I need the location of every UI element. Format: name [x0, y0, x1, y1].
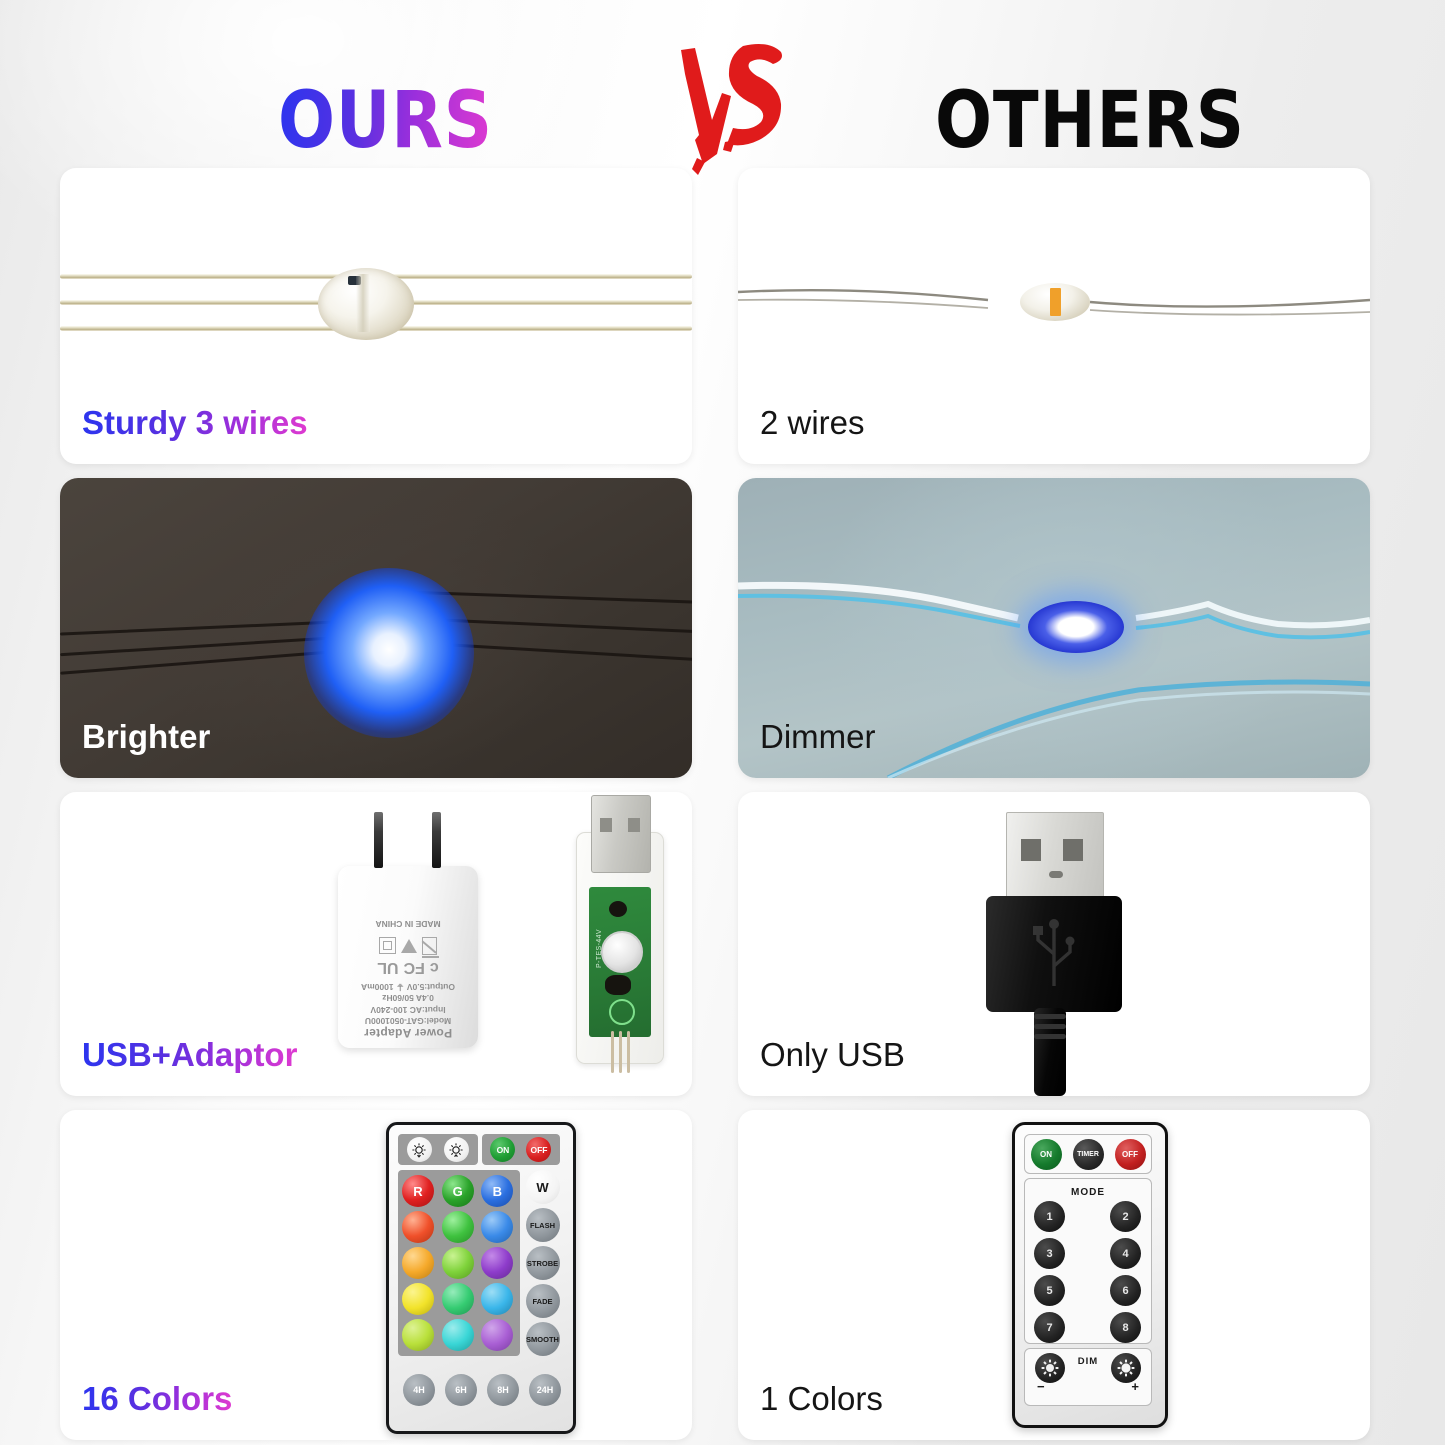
card-others-power: Only USB — [738, 792, 1370, 1096]
usb-cable — [1034, 1008, 1066, 1096]
caption-ours-row2: Brighter — [82, 718, 210, 756]
mode-button-3[interactable]: 3 — [1034, 1238, 1065, 1269]
remote-timer-row: 4H 6H 8H 24H — [398, 1374, 566, 1406]
color-button[interactable] — [442, 1247, 474, 1279]
card-ours-brightness: Brighter — [60, 478, 692, 778]
sun-up-icon — [411, 1142, 427, 1158]
class2-square-icon — [379, 938, 396, 955]
color-button-r[interactable]: R — [402, 1175, 434, 1207]
caption-ours-row1: Sturdy 3 wires — [82, 404, 308, 442]
triangle-icon — [401, 939, 417, 953]
remote-top-panel: ON TIMER OFF — [1024, 1134, 1152, 1174]
mode-number-grid: 1 2 3 4 5 6 7 8 — [1025, 1201, 1151, 1343]
color-button[interactable] — [481, 1283, 513, 1315]
mode-button-smooth[interactable]: SMOOTH — [526, 1322, 560, 1356]
pcb-board: P-TES-44V — [589, 887, 651, 1037]
color-button-b[interactable]: B — [481, 1175, 513, 1207]
color-button[interactable] — [442, 1211, 474, 1243]
vs-brush-icon — [665, 36, 805, 176]
mode-label: MODE — [1025, 1187, 1151, 1198]
adapter-title: Power Adapter — [338, 1027, 478, 1039]
color-button[interactable] — [481, 1211, 513, 1243]
dongle-output-wires — [605, 1031, 635, 1073]
remote-off-button[interactable]: OFF — [526, 1137, 551, 1162]
color-button[interactable] — [402, 1319, 434, 1351]
dongle-button[interactable] — [601, 931, 643, 973]
header-others-title: OTHERS — [935, 76, 1245, 166]
mode-button-4[interactable]: 4 — [1110, 1238, 1141, 1269]
remote-mode-panel: MODE 1 2 3 4 5 6 7 8 — [1024, 1178, 1152, 1344]
mode-button-6[interactable]: 6 — [1110, 1275, 1141, 1306]
ul-mark-icon: c — [430, 962, 439, 974]
fcc-mark-icon: FC — [404, 962, 425, 974]
two-wires-image — [738, 256, 1370, 346]
sun-down-icon — [448, 1142, 464, 1158]
mode-button-1[interactable]: 1 — [1034, 1201, 1065, 1232]
mode-button-8[interactable]: 8 — [1110, 1312, 1141, 1343]
certification-marks: c FC UL — [338, 962, 478, 974]
adapter-current: 0.4A 50/60Hz — [338, 992, 478, 1004]
color-grid: R G B — [398, 1170, 520, 1356]
symbol-marks — [338, 937, 478, 955]
caption-ours-row4: 16 Colors — [82, 1380, 232, 1418]
mode-remote-control[interactable]: ON TIMER OFF MODE 1 2 3 4 5 6 7 8 — [1012, 1122, 1168, 1428]
comparison-infographic: OURS OTHERS Sturdy 3 wires — [0, 0, 1445, 1445]
dim-minus-sign: − — [1037, 1379, 1045, 1394]
timer-button-6h[interactable]: 6H — [445, 1374, 477, 1406]
mode-button-fade[interactable]: FADE — [526, 1284, 560, 1318]
card-others-wires: 2 wires — [738, 168, 1370, 464]
card-ours-power: Power Adapter Model:GAT-0501000U Input:A… — [60, 792, 692, 1096]
usb-controller-dongle: P-TES-44V — [576, 832, 664, 1064]
mode-button-5[interactable]: 5 — [1034, 1275, 1065, 1306]
header: OURS OTHERS — [0, 28, 1445, 158]
caption-others-row3: Only USB — [760, 1036, 905, 1074]
card-ours-wires: Sturdy 3 wires — [60, 168, 692, 464]
brightness-up-button[interactable] — [407, 1137, 432, 1162]
three-wires-image — [60, 264, 692, 344]
sun-icon — [1117, 1359, 1135, 1377]
color-button[interactable] — [402, 1247, 434, 1279]
mode-button-2[interactable]: 2 — [1110, 1201, 1141, 1232]
caption-others-row4: 1 Colors — [760, 1380, 883, 1418]
remote-timer-button[interactable]: TIMER — [1073, 1139, 1104, 1170]
usb-plastic-body — [986, 896, 1122, 1012]
wheelie-bin-icon — [422, 937, 437, 955]
color-button[interactable] — [481, 1319, 513, 1351]
card-ours-colors: ON OFF R G B — [60, 1110, 692, 1440]
timer-button-8h[interactable]: 8H — [487, 1374, 519, 1406]
usb-connector-icon — [591, 795, 651, 873]
color-button[interactable] — [402, 1211, 434, 1243]
card-others-brightness: Dimmer — [738, 478, 1370, 778]
remote-off-button[interactable]: OFF — [1115, 1139, 1146, 1170]
brightness-down-button[interactable] — [444, 1137, 469, 1162]
adapter-output: Output:5.0V ⏚ 1000mA — [338, 981, 478, 993]
dim-signs: − + — [1025, 1379, 1151, 1394]
power-adapter-image: Power Adapter Model:GAT-0501000U Input:A… — [338, 866, 478, 1048]
adapter-input: Input:AC 100-240V — [338, 1004, 478, 1016]
caption-others-row2: Dimmer — [760, 718, 875, 756]
adapter-origin: MADE IN CHINA — [338, 918, 478, 930]
mode-button-strobe[interactable]: STROBE — [526, 1246, 560, 1280]
remote-on-button[interactable]: ON — [490, 1137, 515, 1162]
color-button[interactable] — [442, 1283, 474, 1315]
color-button-g[interactable]: G — [442, 1175, 474, 1207]
color-button-w[interactable]: W — [526, 1170, 560, 1204]
color-button[interactable] — [402, 1283, 434, 1315]
mode-button-flash[interactable]: FLASH — [526, 1208, 560, 1242]
timer-button-4h[interactable]: 4H — [403, 1374, 435, 1406]
color-button[interactable] — [442, 1319, 474, 1351]
adapter-model: Model:GAT-0501000U — [338, 1015, 478, 1027]
remote-top-row: ON OFF — [398, 1134, 560, 1165]
usb-metal-head-icon — [1006, 812, 1104, 902]
color-button[interactable] — [481, 1247, 513, 1279]
timer-button-24h[interactable]: 24H — [529, 1374, 561, 1406]
black-usb-connector-image — [978, 812, 1130, 1096]
caption-others-row1: 2 wires — [760, 404, 865, 442]
dim-plus-sign: + — [1131, 1379, 1139, 1394]
ul-circle-icon: UL — [377, 962, 398, 974]
caption-ours-row3: USB+Adaptor — [82, 1036, 297, 1074]
usb-trident-icon — [1026, 914, 1082, 994]
rgb-remote-control[interactable]: ON OFF R G B — [386, 1122, 576, 1434]
remote-dim-panel: DIM − + — [1024, 1348, 1152, 1406]
led-bead-small-icon — [1020, 283, 1090, 321]
remote-mode-column: W FLASH STROBE FADE SMOOTH — [516, 1170, 569, 1356]
header-ours-title: OURS — [278, 76, 493, 166]
mode-button-7[interactable]: 7 — [1034, 1312, 1065, 1343]
remote-on-button[interactable]: ON — [1031, 1139, 1062, 1170]
led-bead-icon — [318, 268, 414, 340]
